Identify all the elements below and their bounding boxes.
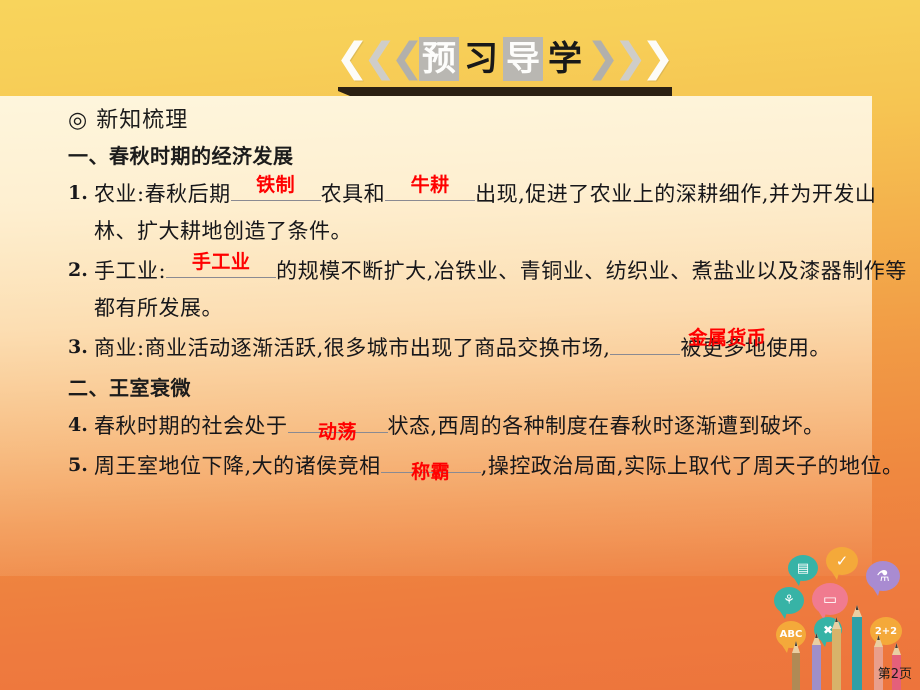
title-char-3: 导 xyxy=(503,37,543,81)
answer-text: 铁制 xyxy=(256,174,295,196)
answer-blank[interactable]: 牛耕 xyxy=(385,175,475,201)
body-content: ◎ 新知梳理 一、春秋时期的经济发展 1. 农业:春秋后期铁制农具和牛耕出现,促… xyxy=(0,104,920,485)
answer-blank[interactable]: 手工业 xyxy=(166,252,276,278)
title-row: ❮ ❮ ❮ 预 习 导 学 ❯ ❯ ❯ xyxy=(332,34,672,84)
answer-text: 牛耕 xyxy=(411,174,450,196)
title-underline-bar-cap xyxy=(658,87,672,96)
title-banner: ❮ ❮ ❮ 预 习 导 学 ❯ ❯ ❯ xyxy=(332,34,672,96)
title-underline-bar xyxy=(338,87,666,96)
pencil-icon xyxy=(832,628,841,690)
item-segment: 手工业: xyxy=(94,259,166,283)
pencil-icon xyxy=(812,644,821,690)
chevron-right-icon: ❯ xyxy=(614,38,642,78)
item-text: 商业:商业活动逐渐活跃,很多城市出现了商品交换市场,金属货币被更多地使用。 xyxy=(94,329,908,367)
item-segment: 春秋时期的社会处于 xyxy=(94,414,288,438)
chevron-left-icon: ❮ xyxy=(363,38,391,78)
list-item: 5. 周王室地位下降,大的诸侯竞相称霸,操控政治局面,实际上取代了周天子的地位。 xyxy=(0,447,920,485)
left-chevrons-group: ❮ ❮ ❮ xyxy=(335,41,418,78)
answer-text: 手工业 xyxy=(192,251,251,273)
item-text: 手工业:手工业的规模不断扩大,冶铁业、青铜业、纺织业、煮盐业以及漆器制作等都有所… xyxy=(94,252,908,327)
pencil-icon xyxy=(792,652,800,690)
check-icon: ✓ xyxy=(826,547,858,575)
book-icon: ▤ xyxy=(788,555,818,581)
item-text: 春秋时期的社会处于动荡状态,西周的各种制度在春秋时逐渐遭到破坏。 xyxy=(94,407,908,445)
item-segment: 农具和 xyxy=(321,182,386,206)
title-char-2: 习 xyxy=(461,37,501,81)
heading-section-one: 一、春秋时期的经济发展 xyxy=(0,139,920,173)
answer-blank[interactable]: 金属货币 xyxy=(610,329,680,355)
item-segment: 周王室地位下降,大的诸侯竞相 xyxy=(94,454,381,478)
slide-root: ❮ ❮ ❮ 预 习 导 学 ❯ ❯ ❯ ◎ 新知梳理 一、春秋时期的经济发展 1… xyxy=(0,0,920,690)
heading-new-knowledge: ◎ 新知梳理 xyxy=(0,104,920,138)
chevron-right-icon: ❯ xyxy=(586,38,614,78)
page-number: 第2页 xyxy=(878,663,912,682)
item-number: 3. xyxy=(68,329,94,367)
chevron-left-icon: ❮ xyxy=(335,38,363,78)
title-char-1: 预 xyxy=(419,37,459,81)
list-item: 2. 手工业:手工业的规模不断扩大,冶铁业、青铜业、纺织业、煮盐业以及漆器制作等… xyxy=(0,252,920,327)
chevron-left-icon: ❮ xyxy=(390,38,418,78)
title-char-4: 学 xyxy=(545,37,585,81)
answer-blank[interactable]: 铁制 xyxy=(231,175,321,201)
item-segment: 农业:春秋后期 xyxy=(94,182,231,206)
answer-text: 金属货币 xyxy=(688,327,766,349)
answer-blank[interactable]: 称霸 xyxy=(381,447,481,473)
answer-text: 动荡 xyxy=(318,421,357,443)
list-item: 4. 春秋时期的社会处于动荡状态,西周的各种制度在春秋时逐渐遭到破坏。 xyxy=(0,407,920,445)
right-chevrons-group: ❯ ❯ ❯ xyxy=(586,41,669,78)
item-number: 5. xyxy=(68,447,94,485)
flask-icon: ⚗ xyxy=(866,561,900,591)
list-item: 1. 农业:春秋后期铁制农具和牛耕出现,促进了农业上的深耕细作,并为开发山林、扩… xyxy=(0,175,920,250)
item-number: 4. xyxy=(68,407,94,445)
item-segment: 状态,西周的各种制度在春秋时逐渐遭到破坏。 xyxy=(388,414,825,438)
list-item: 3. 商业:商业活动逐渐活跃,很多城市出现了商品交换市场,金属货币被更多地使用。 xyxy=(0,329,920,367)
item-number: 2. xyxy=(68,252,94,327)
plant-icon: ⚘ xyxy=(774,587,804,614)
answer-text: 称霸 xyxy=(411,461,450,483)
chevron-right-icon: ❯ xyxy=(641,38,669,78)
math-icon: 2+2 xyxy=(870,617,902,645)
abc-icon: ABC xyxy=(776,621,806,648)
heading-section-two: 二、王室衰微 xyxy=(0,371,920,405)
answer-blank[interactable]: 动荡 xyxy=(288,407,388,433)
item-segment: ,操控政治局面,实际上取代了周天子的地位。 xyxy=(481,454,904,478)
item-text: 农业:春秋后期铁制农具和牛耕出现,促进了农业上的深耕细作,并为开发山林、扩大耕地… xyxy=(94,175,908,250)
item-segment: 商业:商业活动逐渐活跃,很多城市出现了商品交换市场, xyxy=(94,336,610,360)
item-number: 1. xyxy=(68,175,94,250)
item-text: 周王室地位下降,大的诸侯竞相称霸,操控政治局面,实际上取代了周天子的地位。 xyxy=(94,447,908,485)
pencil-icon xyxy=(852,616,862,690)
laptop-icon: ▭ xyxy=(812,583,848,615)
